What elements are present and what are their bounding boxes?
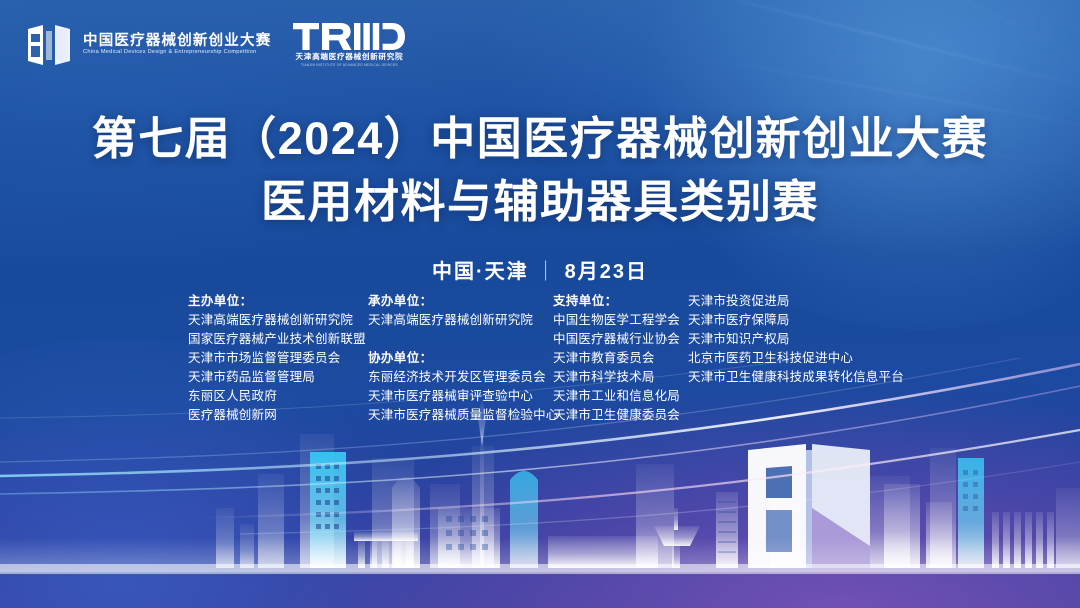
trmd-institute-logo: 天津高端医疗器械创新研究院 TIANJIN INSTITUTE OF ADVAN… [293, 23, 405, 67]
undertaker-coorganizer-column: 承办单位：天津高端医疗器械创新研究院协办单位：东丽经济技术开发区管理委员会天津市… [368, 292, 553, 425]
organizer-item: 天津市医疗保障局 [688, 311, 898, 330]
organizer-item: 天津市药品监督管理局 [188, 368, 368, 387]
organizer-item: 天津市教育委员会 [553, 349, 688, 368]
subtitle-separator: ｜ [536, 261, 558, 283]
organizer-item: 天津市卫生健康科技成果转化信息平台 [688, 368, 898, 387]
organizer-item: 天津市医疗器械审评查验中心 [368, 387, 553, 406]
organizer-heading: 协办单位： [368, 349, 553, 368]
cmdc-logo-en-text: China Medical Devices Design & Entrepren… [83, 50, 271, 56]
organizer-heading: 承办单位： [368, 292, 553, 311]
host-column: 主办单位：天津高端医疗器械创新研究院国家医疗器械产业技术创新联盟天津市市场监督管… [188, 292, 368, 425]
organizer-item: 中国生物医学工程学会 [553, 311, 688, 330]
logo-bar: 中国医疗器械创新创业大赛 China Medical Devices Desig… [26, 22, 405, 68]
organizer-item: 国家医疗器械产业技术创新联盟 [188, 330, 368, 349]
organizer-item: 天津市科学技术局 [553, 368, 688, 387]
trmd-logo-en-text: TIANJIN INSTITUTE OF ADVANCED MEDICAL DE… [301, 64, 398, 67]
event-subtitle: 中国·天津｜8月23日 [0, 255, 1080, 284]
organizer-heading: 支持单位： [553, 292, 688, 311]
organizer-item: 东丽经济技术开发区管理委员会 [368, 368, 553, 387]
organizer-item: 东丽区人民政府 [188, 387, 368, 406]
open-door-icon [26, 22, 72, 68]
trmd-wordmark-icon [293, 23, 405, 50]
organizer-item: 北京市医药卫生科技促进中心 [688, 349, 898, 368]
title-line-1: 第七届（2024）中国医疗器械创新创业大赛 [0, 112, 1080, 165]
organizer-columns: 主办单位：天津高端医疗器械创新研究院国家医疗器械产业技术创新联盟天津市市场监督管… [188, 292, 898, 425]
china-medical-devices-competition-logo: 中国医疗器械创新创业大赛 China Medical Devices Desig… [26, 22, 271, 68]
organizer-item: 中国医疗器械行业协会 [553, 330, 688, 349]
organizer-item: 天津市工业和信息化局 [553, 387, 688, 406]
poster-canvas: 中国医疗器械创新创业大赛 China Medical Devices Desig… [0, 0, 1080, 608]
organizer-item: 天津高端医疗器械创新研究院 [188, 311, 368, 330]
organizer-item: 天津市市场监督管理委员会 [188, 349, 368, 368]
organizer-item: 天津市医疗器械质量监督检验中心 [368, 406, 553, 425]
organizer-item: 医疗器械创新网 [188, 406, 368, 425]
supporter-column-b: 天津市投资促进局天津市医疗保障局天津市知识产权局北京市医药卫生科技促进中心天津市… [688, 292, 898, 387]
organizer-item: 天津高端医疗器械创新研究院 [368, 311, 553, 330]
trmd-logo-cn-text: 天津高端医疗器械创新研究院 [295, 53, 403, 61]
organizer-item: 天津市卫生健康委员会 [553, 406, 688, 425]
cmdc-logo-cn-text: 中国医疗器械创新创业大赛 [83, 34, 271, 49]
organizer-block-gap [368, 330, 553, 349]
poster-title: 第七届（2024）中国医疗器械创新创业大赛 医用材料与辅助器具类别赛 [0, 112, 1080, 228]
organizer-heading: 主办单位： [188, 292, 368, 311]
event-location: 中国·天津 [432, 261, 529, 283]
organizer-item: 天津市投资促进局 [688, 292, 898, 311]
supporter-column-a: 支持单位：中国生物医学工程学会中国医疗器械行业协会天津市教育委员会天津市科学技术… [553, 292, 688, 425]
organizer-item: 天津市知识产权局 [688, 330, 898, 349]
light-ray [647, 0, 1080, 105]
light-ray [836, 0, 1080, 83]
title-line-2: 医用材料与辅助器具类别赛 [0, 175, 1080, 228]
event-date: 8月23日 [565, 261, 648, 283]
